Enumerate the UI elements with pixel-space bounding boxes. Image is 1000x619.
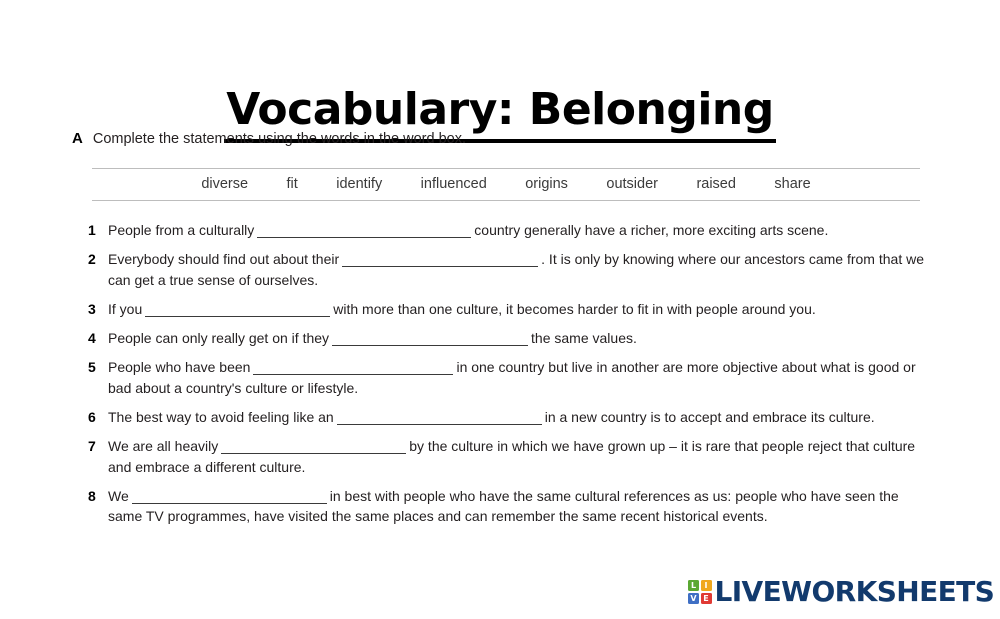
answer-blank-7[interactable]: [221, 442, 406, 454]
question-text-before: Everybody should find out about their: [108, 251, 339, 267]
question-text-after: with more than one culture, it becomes h…: [333, 301, 816, 317]
answer-blank-2[interactable]: [342, 255, 538, 267]
question-text: If youwith more than one culture, it bec…: [108, 299, 933, 319]
word-box-item: diverse: [201, 176, 248, 192]
question-list: 1 People from a culturallycountry genera…: [88, 220, 933, 536]
word-box-item: raised: [696, 176, 736, 192]
logo-tile-e: E: [701, 593, 712, 604]
question-text: The best way to avoid feeling like anin …: [108, 407, 933, 427]
question-text-after: country generally have a richer, more ex…: [474, 222, 828, 238]
question-text-before: We are all heavily: [108, 438, 218, 454]
liveworksheets-wordmark: LIVEWORKSHEETS: [715, 578, 995, 606]
question-text: People can only really get on if theythe…: [108, 328, 933, 348]
question-number: 5: [88, 357, 108, 377]
question-item-1: 1 People from a culturallycountry genera…: [88, 220, 933, 240]
question-text: Everybody should find out about their. I…: [108, 249, 933, 290]
question-text-after: the same values.: [531, 330, 637, 346]
question-item-2: 2 Everybody should find out about their.…: [88, 249, 933, 290]
question-item-6: 6 The best way to avoid feeling like ani…: [88, 407, 933, 427]
question-number: 1: [88, 220, 108, 240]
logo-tile-l: L: [688, 580, 699, 591]
question-text-before: People can only really get on if they: [108, 330, 329, 346]
question-number: 2: [88, 249, 108, 269]
question-text: We are all heavilyby the culture in whic…: [108, 436, 933, 477]
answer-blank-6[interactable]: [337, 413, 542, 425]
question-text-after: in a new country is to accept and embrac…: [545, 409, 875, 425]
answer-blank-8[interactable]: [132, 492, 327, 504]
question-item-5: 5 People who have beenin one country but…: [88, 357, 933, 398]
question-text-before: People from a culturally: [108, 222, 254, 238]
question-text-before: The best way to avoid feeling like an: [108, 409, 334, 425]
question-number: 4: [88, 328, 108, 348]
question-number: 8: [88, 486, 108, 506]
word-box-words: diverse fit identify influenced origins …: [184, 175, 827, 193]
word-box-item: fit: [287, 176, 298, 192]
word-box-item: outsider: [606, 176, 658, 192]
word-box: diverse fit identify influenced origins …: [92, 168, 920, 201]
answer-blank-3[interactable]: [145, 305, 330, 317]
question-number: 3: [88, 299, 108, 319]
question-number: 7: [88, 436, 108, 456]
word-box-item: origins: [525, 176, 568, 192]
question-text: People who have beenin one country but l…: [108, 357, 933, 398]
question-item-4: 4 People can only really get on if theyt…: [88, 328, 933, 348]
question-item-8: 8 Wein best with people who have the sam…: [88, 486, 933, 527]
logo-tile-v: V: [688, 593, 699, 604]
section-letter: A: [72, 130, 83, 147]
word-box-item: influenced: [421, 176, 487, 192]
question-text: Wein best with people who have the same …: [108, 486, 933, 527]
liveworksheets-tiles-icon: L I V E: [688, 580, 712, 604]
liveworksheets-logo[interactable]: L I V E LIVEWORKSHEETS: [688, 578, 994, 606]
question-text-before: If you: [108, 301, 142, 317]
page-title-container: Vocabulary: Belonging: [0, 58, 1000, 172]
question-text-before: We: [108, 488, 129, 504]
worksheet-page: Vocabulary: Belonging A Complete the sta…: [0, 0, 1000, 619]
answer-blank-4[interactable]: [332, 334, 528, 346]
question-number: 6: [88, 407, 108, 427]
answer-blank-5[interactable]: [253, 363, 453, 375]
section-a-heading: A Complete the statements using the word…: [72, 130, 466, 147]
answer-blank-1[interactable]: [257, 226, 471, 238]
section-instruction: Complete the statements using the words …: [93, 131, 466, 147]
question-text-before: People who have been: [108, 359, 250, 375]
question-item-7: 7 We are all heavilyby the culture in wh…: [88, 436, 933, 477]
word-box-item: identify: [336, 176, 382, 192]
question-item-3: 3 If youwith more than one culture, it b…: [88, 299, 933, 319]
word-box-item: share: [774, 176, 810, 192]
question-text: People from a culturallycountry generall…: [108, 220, 933, 240]
logo-tile-i: I: [701, 580, 712, 591]
